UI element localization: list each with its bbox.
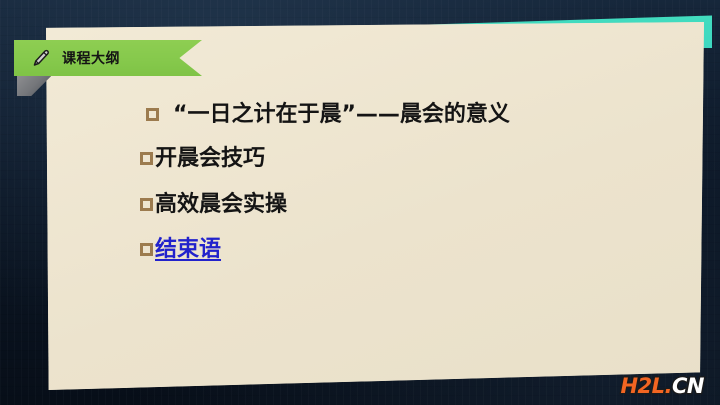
outline-item-label: “一日之计在于晨”——晨会的意义 bbox=[173, 102, 510, 127]
square-bullet-icon bbox=[146, 108, 159, 121]
list-item[interactable]: 高效晨会实操 bbox=[140, 192, 680, 217]
outline-list: “一日之计在于晨”——晨会的意义 开晨会技巧 高效晨会实操 结束语 bbox=[140, 102, 680, 262]
square-bullet-icon bbox=[140, 152, 153, 165]
outline-item-label: 高效晨会实操 bbox=[155, 192, 287, 217]
pencil-icon bbox=[30, 47, 52, 69]
watermark-primary: H2L. bbox=[620, 374, 672, 398]
section-title-ribbon: 课程大纲 bbox=[14, 40, 202, 76]
outline-item-label: 开晨会技巧 bbox=[155, 146, 265, 171]
presentation-slide: 课程大纲 “一日之计在于晨”——晨会的意义 开晨会技巧 高效晨会实操 结束语 H… bbox=[0, 0, 720, 405]
square-bullet-icon bbox=[140, 243, 153, 256]
ribbon-label: 课程大纲 bbox=[62, 48, 120, 68]
square-bullet-icon bbox=[140, 198, 153, 211]
list-item[interactable]: “一日之计在于晨”——晨会的意义 bbox=[140, 102, 680, 127]
outline-item-link[interactable]: 结束语 bbox=[155, 237, 221, 262]
watermark-secondary: CN bbox=[672, 374, 704, 398]
list-item[interactable]: 结束语 bbox=[140, 237, 680, 262]
watermark: H2L.CN bbox=[620, 376, 704, 397]
list-item[interactable]: 开晨会技巧 bbox=[140, 146, 680, 171]
